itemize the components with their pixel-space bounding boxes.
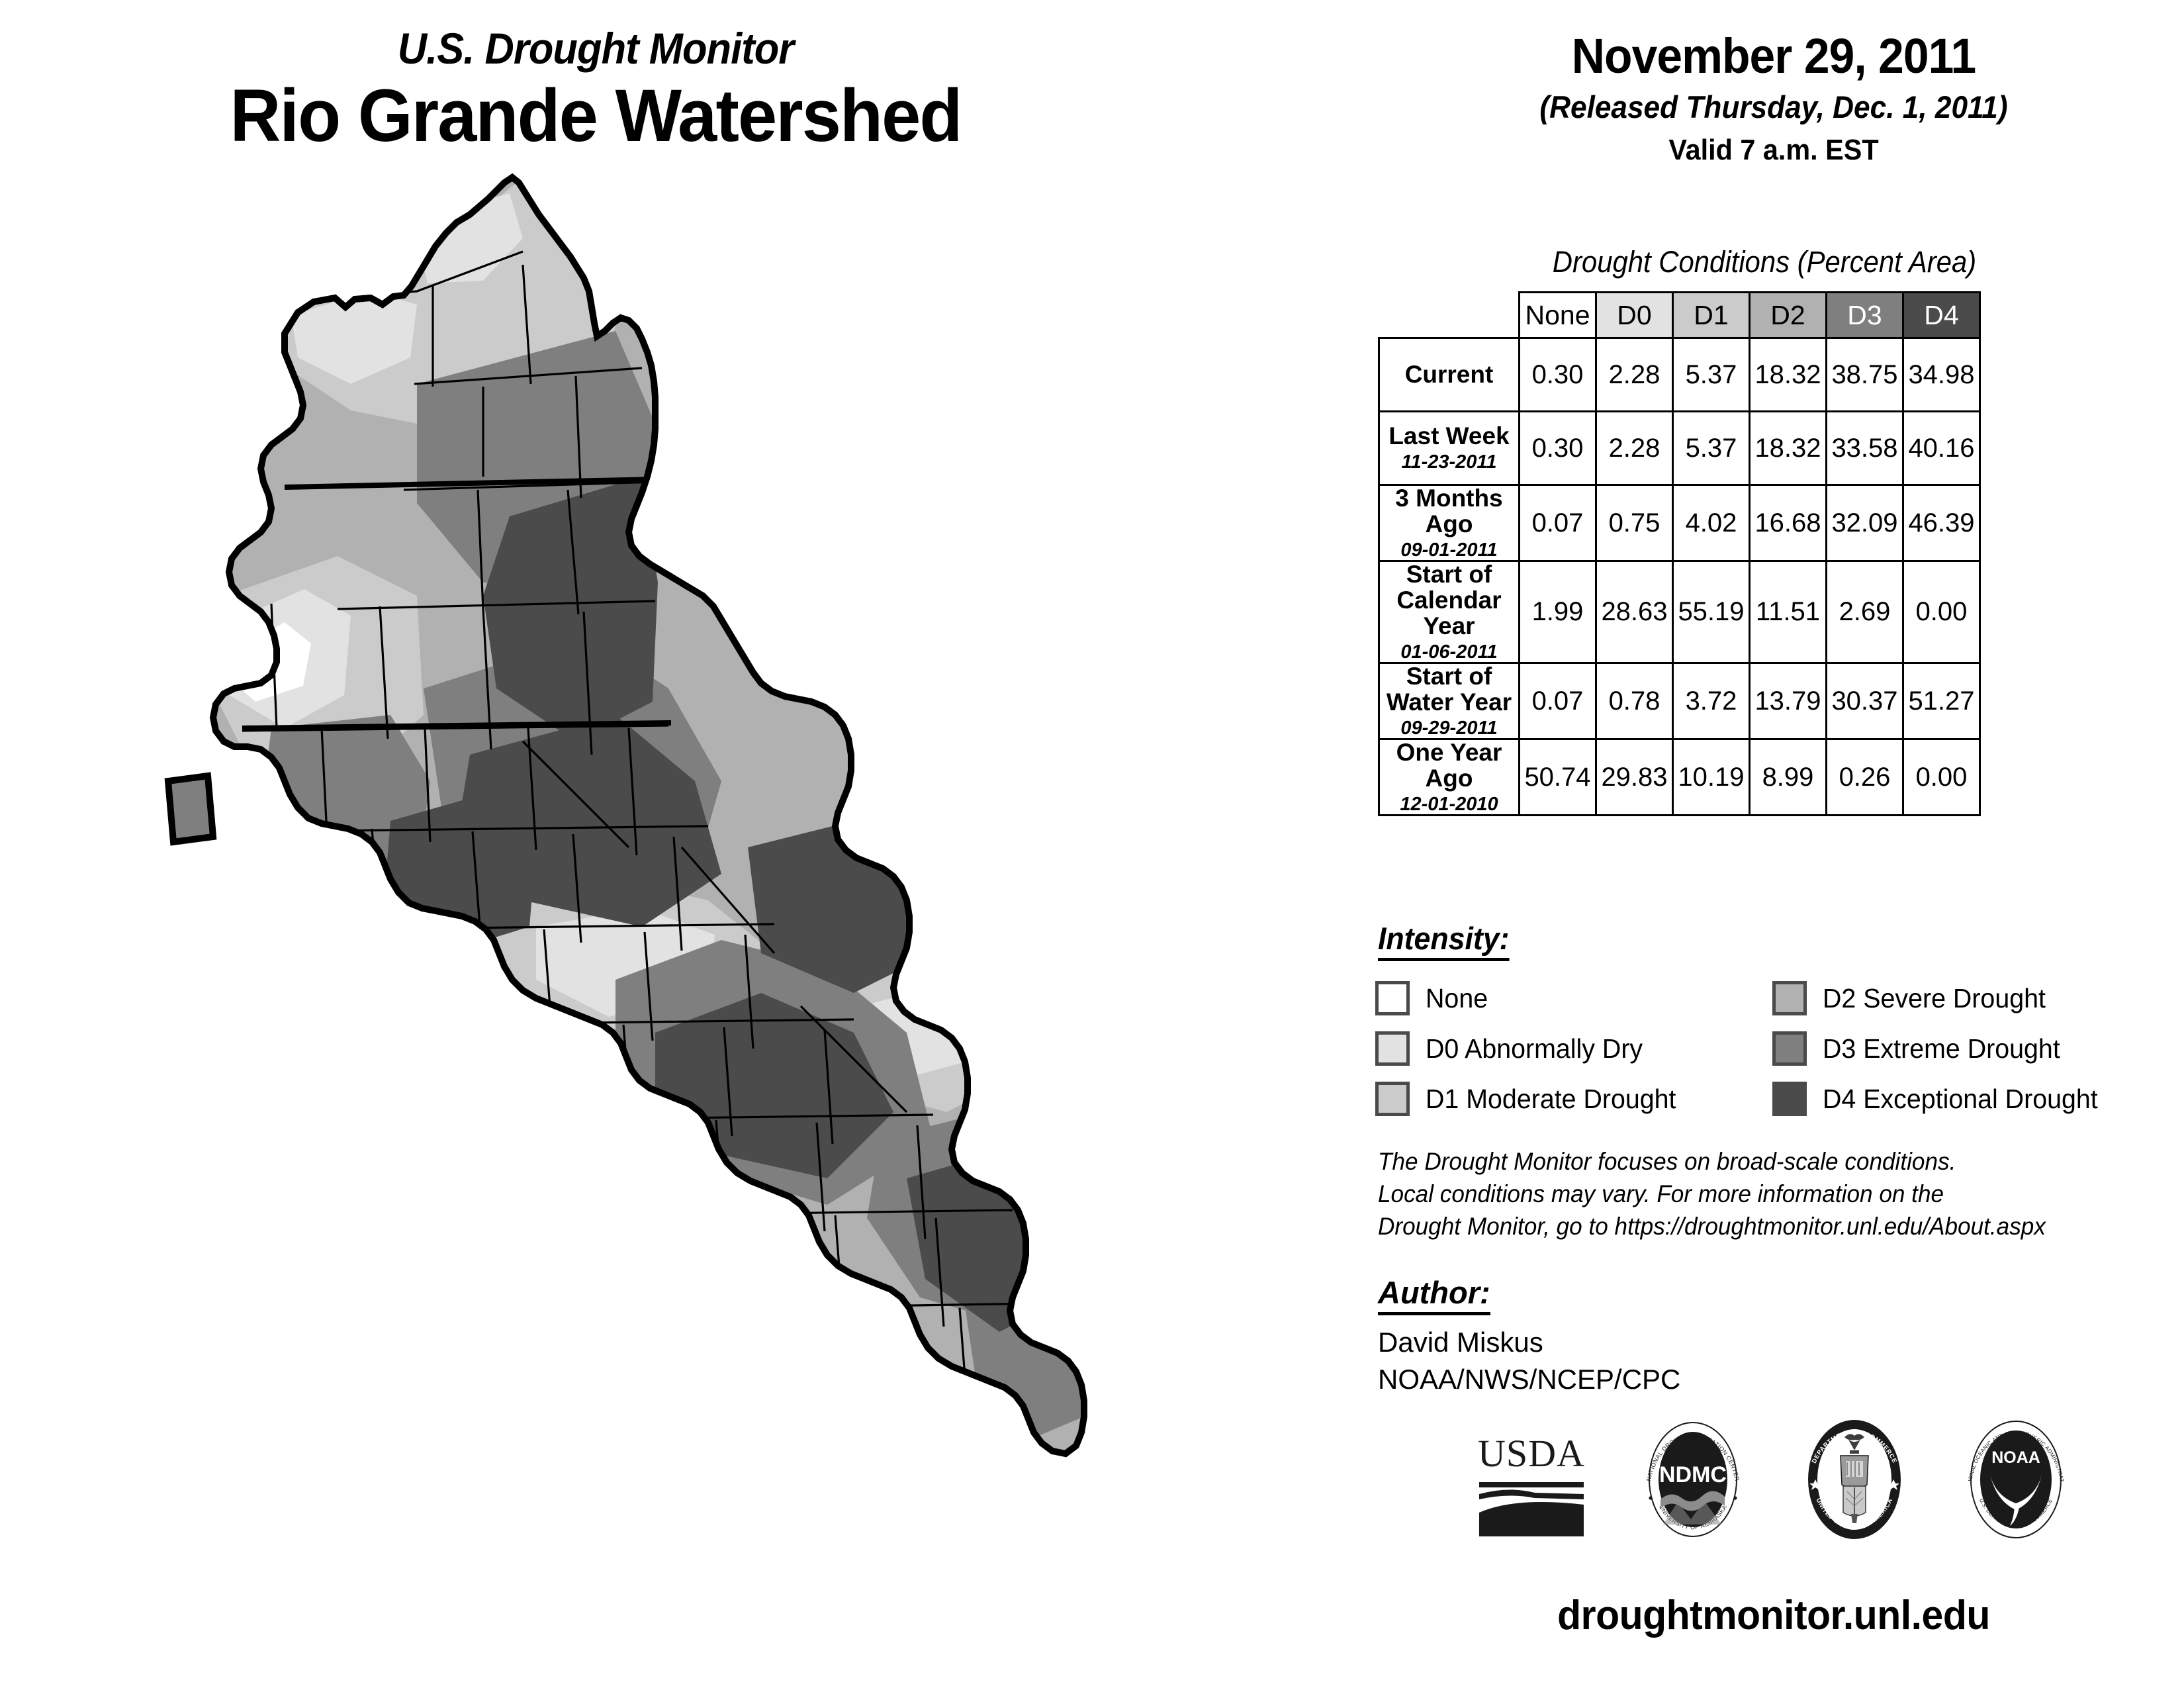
cell-current-d1: 5.37	[1673, 338, 1750, 412]
row-label-text-line2: Water Year	[1387, 688, 1512, 716]
column-header-d2: D2	[1750, 293, 1827, 338]
cell-current-d3: 38.75	[1827, 338, 1903, 412]
disclaimer-line-3: Drought Monitor, go to https://droughtmo…	[1378, 1210, 2139, 1243]
cell-3mo-d4: 46.39	[1903, 485, 1980, 561]
legend-label-d4: D4 Exceptional Drought	[1823, 1084, 2098, 1115]
title-block: U.S. Drought Monitor Rio Grande Watershe…	[0, 26, 1191, 157]
cell-lastweek-d0: 2.28	[1596, 412, 1673, 485]
table-row: Start of Water Year 09-29-2011 0.07 0.78…	[1379, 663, 1980, 739]
column-header-none: None	[1520, 293, 1596, 338]
row-label-start-of-water-year: Start of Water Year 09-29-2011	[1379, 663, 1520, 739]
legend-swatch-d1-icon	[1375, 1082, 1410, 1116]
watershed-map-svg	[86, 159, 1284, 1483]
row-label-text: 3 Months Ago	[1395, 485, 1502, 538]
row-label-text-line2: Calendar Year	[1396, 586, 1501, 639]
legend-swatch-none-icon	[1375, 981, 1410, 1015]
disclaimer-text: The Drought Monitor focuses on broad-sca…	[1378, 1145, 2139, 1243]
doc-logo-svg: DEPARTMENT OF COMMERCE UNITED STATES OF …	[1792, 1413, 1917, 1546]
legend-label-none: None	[1426, 983, 1488, 1014]
legend-item-d0: D0 Abnormally Dry	[1375, 1031, 1772, 1066]
cell-cy-d4: 0.00	[1903, 561, 1980, 663]
row-label-text: One Year Ago	[1396, 739, 1502, 792]
table-row: Start of Calendar Year 01-06-2011 1.99 2…	[1379, 561, 1980, 663]
cell-wy-d2: 13.79	[1750, 663, 1827, 739]
table-title: Drought Conditions (Percent Area)	[1391, 245, 2137, 279]
usda-logo: USDA	[1469, 1413, 1594, 1546]
cell-wy-none: 0.07	[1520, 663, 1596, 739]
row-label-text: Last Week	[1388, 422, 1509, 449]
row-label-start-of-calendar-year: Start of Calendar Year 01-06-2011	[1379, 561, 1520, 663]
cell-3mo-d2: 16.68	[1750, 485, 1827, 561]
cell-oya-d1: 10.19	[1673, 739, 1750, 816]
cell-cy-none: 1.99	[1520, 561, 1596, 663]
cell-wy-d4: 51.27	[1903, 663, 1980, 739]
column-header-d4: D4	[1903, 293, 1980, 338]
intensity-heading: Intensity:	[1378, 920, 1509, 961]
cell-oya-d0: 29.83	[1596, 739, 1673, 816]
cell-oya-d3: 0.26	[1827, 739, 1903, 816]
date-block: November 29, 2011 (Released Thursday, De…	[1363, 32, 2184, 165]
western-detached-parcel	[168, 776, 213, 842]
author-name: David Miskus	[1378, 1324, 1680, 1361]
cell-oya-d2: 8.99	[1750, 739, 1827, 816]
row-label-one-year-ago: One Year Ago 12-01-2010	[1379, 739, 1520, 816]
cell-oya-d4: 0.00	[1903, 739, 1980, 816]
column-header-d3: D3	[1827, 293, 1903, 338]
svg-text:NOAA: NOAA	[1991, 1448, 2040, 1467]
site-url[interactable]: droughtmonitor.unl.edu	[1384, 1592, 2163, 1639]
column-header-d1: D1	[1673, 293, 1750, 338]
cell-wy-d0: 0.78	[1596, 663, 1673, 739]
legend-item-d2: D2 Severe Drought	[1772, 981, 2169, 1015]
cell-3mo-d1: 4.02	[1673, 485, 1750, 561]
column-header-d0: D0	[1596, 293, 1673, 338]
row-label-current: Current	[1379, 338, 1520, 412]
cell-lastweek-d2: 18.32	[1750, 412, 1827, 485]
cell-3mo-d3: 32.09	[1827, 485, 1903, 561]
cell-wy-d3: 30.37	[1827, 663, 1903, 739]
cell-wy-d1: 3.72	[1673, 663, 1750, 739]
info-panel: November 29, 2011 (Released Thursday, De…	[1363, 0, 2184, 1688]
cell-current-d2: 18.32	[1750, 338, 1827, 412]
cell-oya-none: 50.74	[1520, 739, 1596, 816]
released-date: (Released Thursday, Dec. 1, 2011)	[1388, 91, 2160, 122]
legend-item-none: None	[1375, 981, 1772, 1015]
cell-3mo-none: 0.07	[1520, 485, 1596, 561]
table-corner-cell	[1379, 293, 1520, 338]
table-header-row: None D0 D1 D2 D3 D4	[1379, 293, 1980, 338]
row-label-text: Current	[1405, 361, 1494, 388]
usda-logo-svg: USDA	[1469, 1413, 1594, 1546]
legend-label-d3: D3 Extreme Drought	[1823, 1033, 2060, 1064]
row-label-text-line1: Start of	[1406, 663, 1492, 690]
doc-logo: DEPARTMENT OF COMMERCE UNITED STATES OF …	[1792, 1413, 1917, 1546]
cell-lastweek-d3: 33.58	[1827, 412, 1903, 485]
cell-cy-d1: 55.19	[1673, 561, 1750, 663]
table-row: One Year Ago 12-01-2010 50.74 29.83 10.1…	[1379, 739, 1980, 816]
disclaimer-line-2: Local conditions may vary. For more info…	[1378, 1178, 2139, 1210]
table-row: Current 0.30 2.28 5.37 18.32 38.75 34.98	[1379, 338, 1980, 412]
cell-3mo-d0: 0.75	[1596, 485, 1673, 561]
valid-date: November 29, 2011	[1388, 32, 2160, 81]
cell-cy-d3: 2.69	[1827, 561, 1903, 663]
author-heading: Author:	[1378, 1274, 1490, 1315]
row-label-3-months-ago: 3 Months Ago 09-01-2011	[1379, 485, 1520, 561]
svg-text:USDA: USDA	[1478, 1432, 1585, 1475]
cell-current-none: 0.30	[1520, 338, 1596, 412]
cell-current-d4: 34.98	[1903, 338, 1980, 412]
legend-item-d3: D3 Extreme Drought	[1772, 1031, 2169, 1066]
author-block: David Miskus NOAA/NWS/NCEP/CPC	[1378, 1324, 1680, 1398]
noaa-logo: NATIONAL OCEANIC AND ATMOSPHERIC ADMINIS…	[1953, 1413, 2079, 1546]
cell-lastweek-none: 0.30	[1520, 412, 1596, 485]
intensity-legend: None D2 Severe Drought D0 Abnormally Dry…	[1375, 973, 2176, 1124]
table-row: Last Week 11-23-2011 0.30 2.28 5.37 18.3…	[1379, 412, 1980, 485]
author-affiliation: NOAA/NWS/NCEP/CPC	[1378, 1361, 1680, 1398]
row-label-date: 01-06-2011	[1384, 642, 1514, 662]
cell-lastweek-d1: 5.37	[1673, 412, 1750, 485]
legend-label-d0: D0 Abnormally Dry	[1426, 1033, 1643, 1064]
drought-shading-layer	[86, 159, 1284, 1483]
legend-swatch-d4-icon	[1772, 1082, 1807, 1116]
cell-lastweek-d4: 40.16	[1903, 412, 1980, 485]
legend-item-d1: D1 Moderate Drought	[1375, 1082, 1772, 1116]
map-panel: U.S. Drought Monitor Rio Grande Watershe…	[0, 0, 1363, 1688]
cell-cy-d0: 28.63	[1596, 561, 1673, 663]
legend-label-d2: D2 Severe Drought	[1823, 983, 2046, 1014]
row-label-text-line1: Start of	[1406, 561, 1492, 588]
legend-item-d4: D4 Exceptional Drought	[1772, 1082, 2169, 1116]
ndmc-logo-svg: NATIONAL DROUGHT MITIGATION CENTER UNIVE…	[1630, 1413, 1756, 1546]
monitor-label: U.S. Drought Monitor	[42, 26, 1150, 70]
cell-cy-d2: 11.51	[1750, 561, 1827, 663]
noaa-logo-svg: NATIONAL OCEANIC AND ATMOSPHERIC ADMINIS…	[1953, 1413, 2079, 1546]
ndmc-logo: NATIONAL DROUGHT MITIGATION CENTER UNIVE…	[1630, 1413, 1756, 1546]
logo-row: USDA NATIONAL DROUGHT MITIGATION CENTER	[1363, 1413, 2184, 1546]
legend-swatch-d0-icon	[1375, 1031, 1410, 1066]
valid-time: Valid 7 a.m. EST	[1388, 136, 2160, 165]
row-label-date: 09-29-2011	[1384, 718, 1514, 738]
cell-current-d0: 2.28	[1596, 338, 1673, 412]
row-label-last-week: Last Week 11-23-2011	[1379, 412, 1520, 485]
row-label-date: 11-23-2011	[1384, 452, 1514, 472]
table-row: 3 Months Ago 09-01-2011 0.07 0.75 4.02 1…	[1379, 485, 1980, 561]
page-title: Rio Grande Watershed	[30, 74, 1161, 157]
legend-swatch-d2-icon	[1772, 981, 1807, 1015]
legend-swatch-d3-icon	[1772, 1031, 1807, 1066]
drought-conditions-table: None D0 D1 D2 D3 D4 Current 0.30 2.28 5.…	[1378, 291, 1981, 816]
row-label-date: 09-01-2011	[1384, 540, 1514, 560]
legend-label-d1: D1 Moderate Drought	[1426, 1084, 1676, 1115]
disclaimer-line-1: The Drought Monitor focuses on broad-sca…	[1378, 1145, 2139, 1178]
row-label-date: 12-01-2010	[1384, 794, 1514, 814]
rio-grande-watershed-map[interactable]	[86, 159, 1284, 1483]
svg-text:NDMC: NDMC	[1659, 1462, 1727, 1487]
